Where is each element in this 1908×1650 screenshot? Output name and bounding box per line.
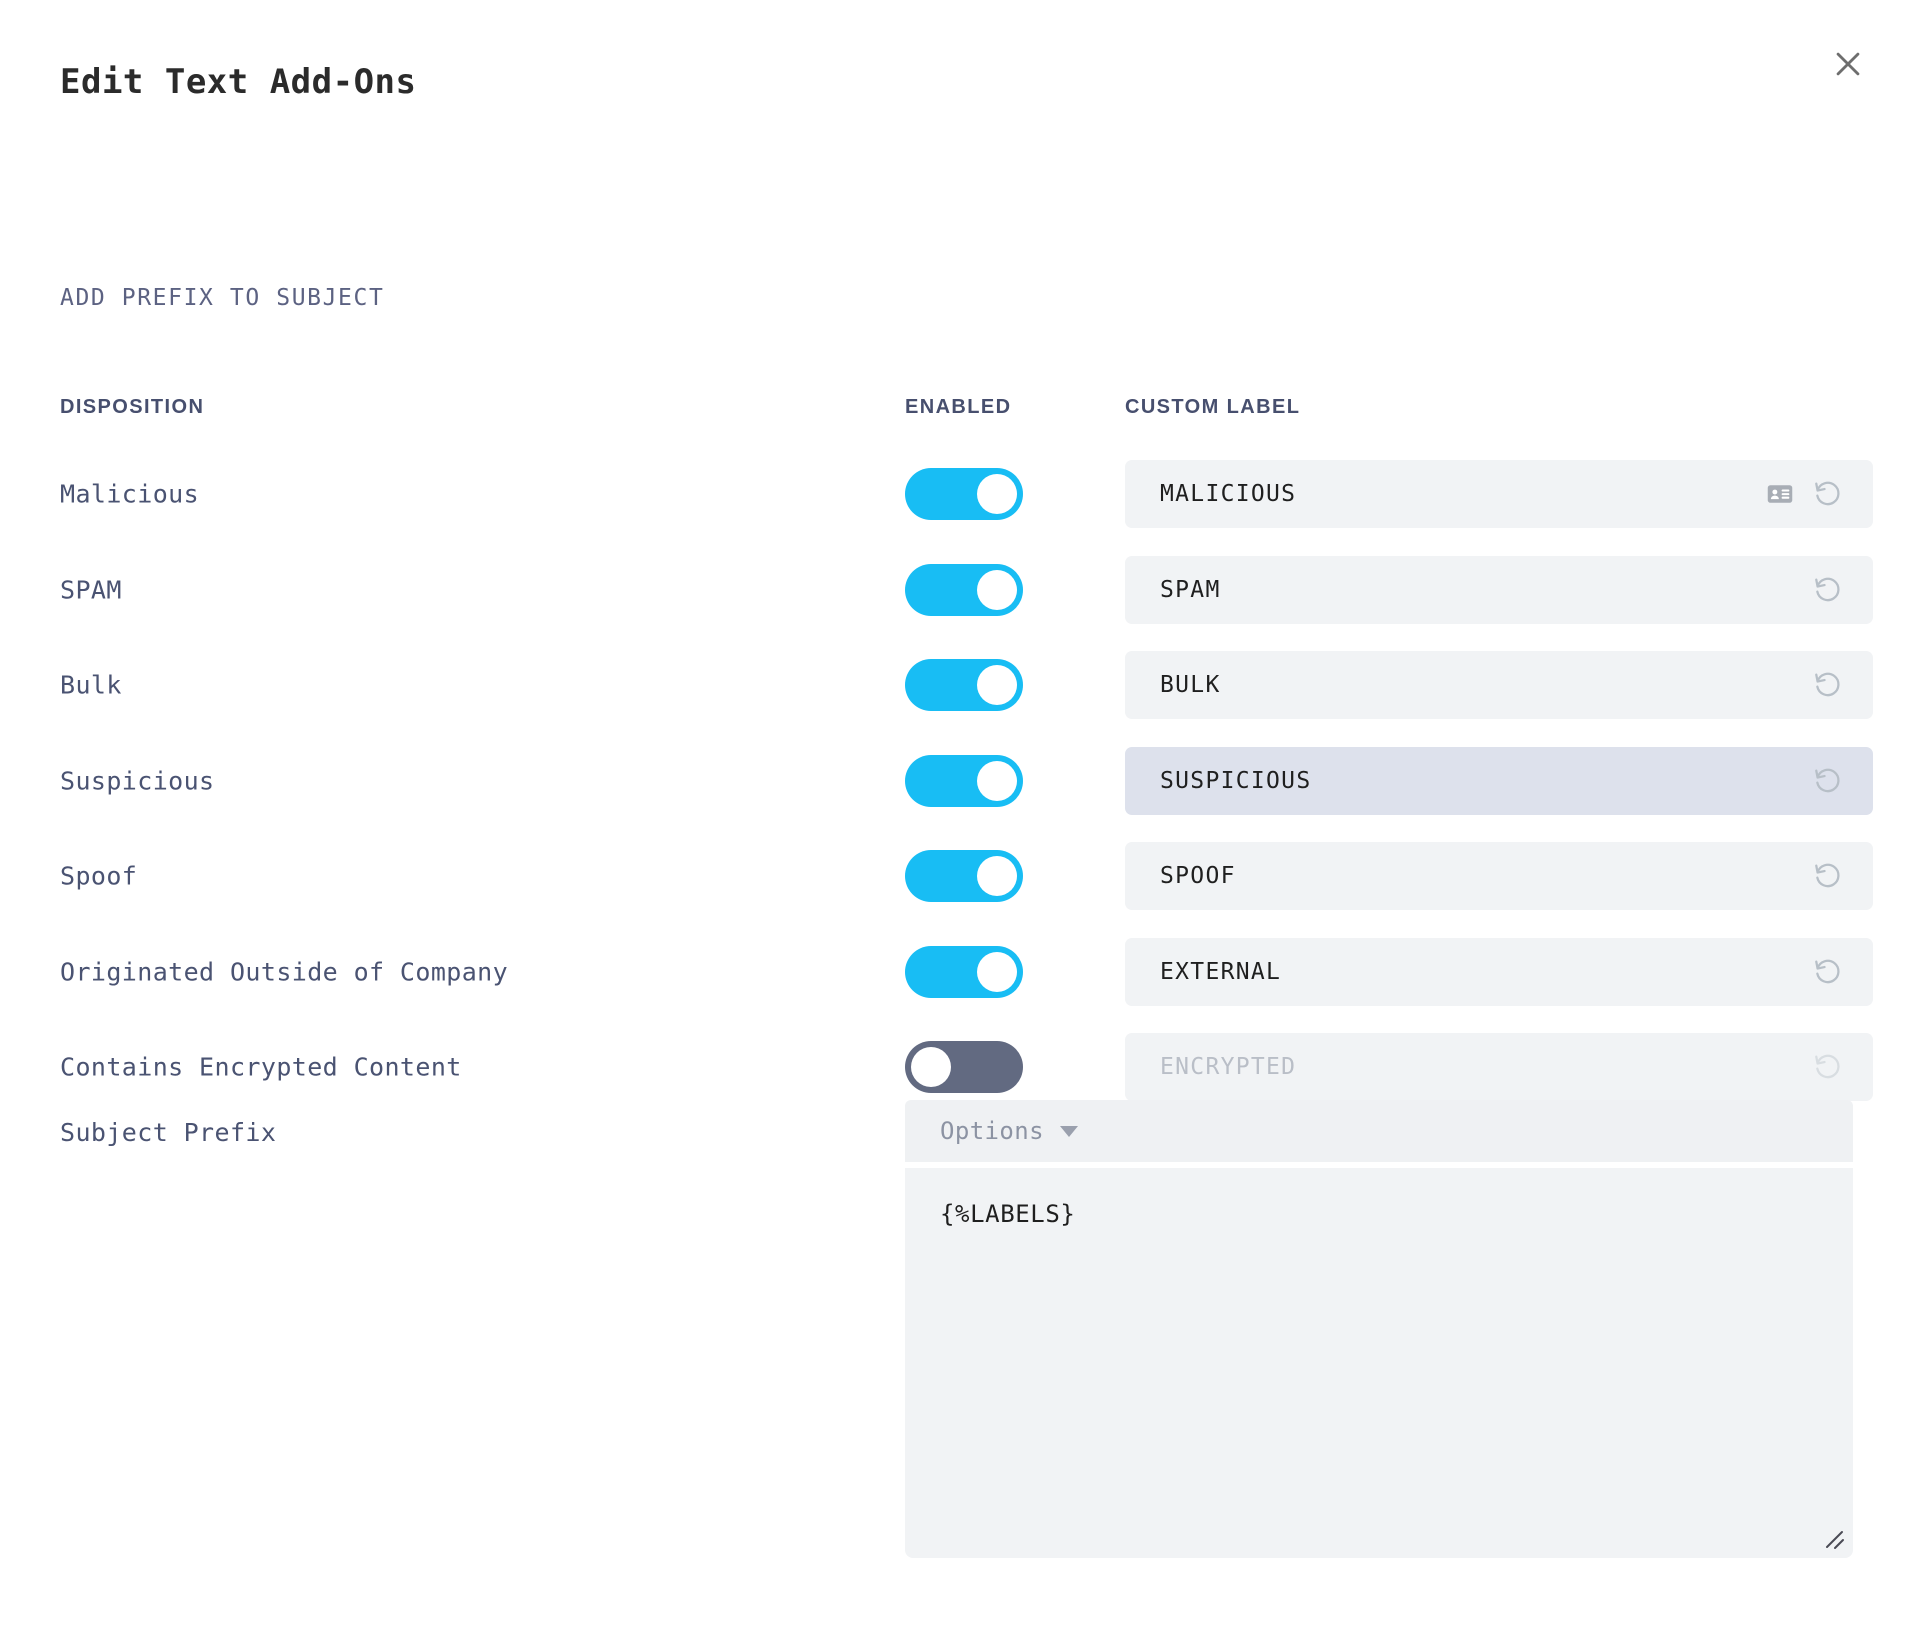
toggle-knob: [977, 570, 1017, 610]
table-row: SPAMSPAM: [0, 544, 1908, 636]
custom-label-value: SPAM: [1160, 577, 1811, 603]
field-icon-group: [1811, 764, 1845, 798]
subject-prefix-textarea[interactable]: {%LABELS}: [905, 1168, 1853, 1558]
disposition-label: Bulk: [60, 671, 122, 700]
table-row: Originated Outside of CompanyEXTERNAL: [0, 926, 1908, 1018]
reset-icon[interactable]: [1811, 573, 1845, 607]
enabled-toggle[interactable]: [905, 850, 1023, 902]
close-button[interactable]: [1818, 34, 1878, 94]
field-icon-group: [1811, 1050, 1845, 1084]
reset-icon[interactable]: [1811, 668, 1845, 702]
custom-label-input: ENCRYPTED: [1125, 1033, 1873, 1101]
contact-card-icon[interactable]: [1763, 477, 1797, 511]
custom-label-input[interactable]: BULK: [1125, 651, 1873, 719]
subject-prefix-textarea-value: {%LABELS}: [940, 1200, 1075, 1228]
table-row: BulkBULK: [0, 639, 1908, 731]
section-title: ADD PREFIX TO SUBJECT: [60, 285, 384, 311]
field-icon-group: [1763, 477, 1845, 511]
custom-label-value: EXTERNAL: [1160, 959, 1811, 985]
column-header-custom-label: CUSTOM LABEL: [1125, 396, 1300, 419]
toggle-knob: [911, 1047, 951, 1087]
toggle-knob: [977, 761, 1017, 801]
custom-label-input[interactable]: SUSPICIOUS: [1125, 747, 1873, 815]
disposition-label: SPAM: [60, 575, 122, 604]
custom-label-value: BULK: [1160, 672, 1811, 698]
enabled-toggle[interactable]: [905, 468, 1023, 520]
enabled-toggle[interactable]: [905, 1041, 1023, 1093]
enabled-toggle[interactable]: [905, 946, 1023, 998]
reset-icon[interactable]: [1811, 477, 1845, 511]
options-dropdown-button[interactable]: Options: [905, 1100, 1853, 1162]
custom-label-input[interactable]: EXTERNAL: [1125, 938, 1873, 1006]
column-header-disposition: DISPOSITION: [60, 396, 204, 419]
field-icon-group: [1811, 668, 1845, 702]
enabled-toggle[interactable]: [905, 564, 1023, 616]
custom-label-input[interactable]: MALICIOUS: [1125, 460, 1873, 528]
toggle-knob: [977, 474, 1017, 514]
custom-label-input[interactable]: SPAM: [1125, 556, 1873, 624]
disposition-label: Contains Encrypted Content: [60, 1053, 462, 1082]
disposition-label: Malicious: [60, 480, 199, 509]
reset-icon[interactable]: [1811, 955, 1845, 989]
table-row: MaliciousMALICIOUS: [0, 448, 1908, 540]
toggle-knob: [977, 856, 1017, 896]
column-header-enabled: ENABLED: [905, 396, 1011, 419]
custom-label-value: MALICIOUS: [1160, 481, 1763, 507]
chevron-down-icon: [1060, 1126, 1078, 1137]
subject-prefix-label: Subject Prefix: [60, 1118, 276, 1147]
field-icon-group: [1811, 573, 1845, 607]
custom-label-value: ENCRYPTED: [1160, 1054, 1811, 1080]
disposition-label: Originated Outside of Company: [60, 957, 508, 986]
field-icon-group: [1811, 859, 1845, 893]
toggle-knob: [977, 952, 1017, 992]
reset-icon[interactable]: [1811, 859, 1845, 893]
close-icon: [1831, 47, 1865, 81]
toggle-knob: [977, 665, 1017, 705]
disposition-label: Spoof: [60, 862, 137, 891]
reset-icon[interactable]: [1811, 1050, 1845, 1084]
page-title: Edit Text Add-Ons: [60, 62, 417, 102]
field-icon-group: [1811, 955, 1845, 989]
table-row: SpoofSPOOF: [0, 830, 1908, 922]
custom-label-input[interactable]: SPOOF: [1125, 842, 1873, 910]
reset-icon[interactable]: [1811, 764, 1845, 798]
enabled-toggle[interactable]: [905, 659, 1023, 711]
enabled-toggle[interactable]: [905, 755, 1023, 807]
options-label: Options: [940, 1117, 1044, 1145]
custom-label-value: SUSPICIOUS: [1160, 768, 1811, 794]
custom-label-value: SPOOF: [1160, 863, 1811, 889]
table-row: SuspiciousSUSPICIOUS: [0, 735, 1908, 827]
resize-handle-icon[interactable]: [1821, 1526, 1847, 1552]
disposition-label: Suspicious: [60, 766, 215, 795]
